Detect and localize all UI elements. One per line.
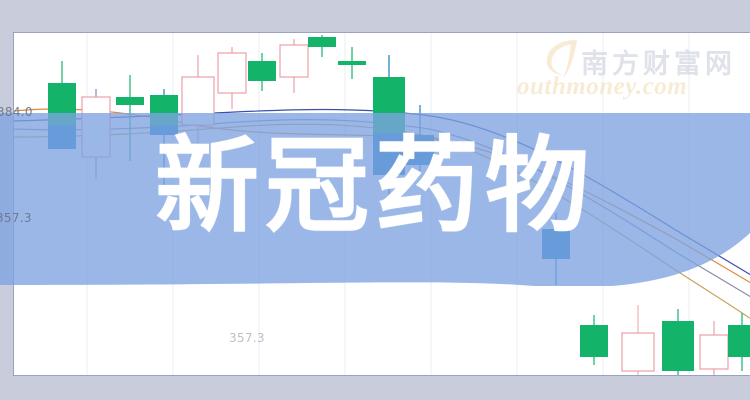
stock-chart-panel[interactable]	[13, 32, 750, 376]
candle-row	[116, 75, 144, 161]
candle-row	[406, 105, 434, 171]
candle-row	[308, 35, 336, 57]
price-label-bottom: 357.3	[229, 331, 265, 345]
candle-row	[82, 89, 110, 179]
candle-row	[280, 39, 308, 93]
candle-row	[728, 313, 750, 371]
screenshot-root: 384.0 357.3 357.3 南方财富网 outhmoney.com 新冠…	[0, 0, 750, 400]
chart-svg	[14, 33, 750, 376]
price-label-mid: 357.3	[0, 211, 32, 225]
candle-row	[622, 305, 654, 376]
candle-row	[542, 213, 570, 285]
price-label-top: 384.0	[0, 105, 33, 119]
candle-row	[580, 315, 608, 365]
candlestick-plot[interactable]	[14, 33, 750, 375]
candle-row	[248, 53, 276, 91]
candle-series	[48, 35, 750, 376]
candle-row	[218, 47, 246, 109]
candle-row	[338, 47, 366, 79]
candle-row	[150, 89, 178, 188]
candle-row	[373, 55, 405, 195]
candle-row	[48, 61, 76, 149]
candle-row	[700, 321, 728, 376]
